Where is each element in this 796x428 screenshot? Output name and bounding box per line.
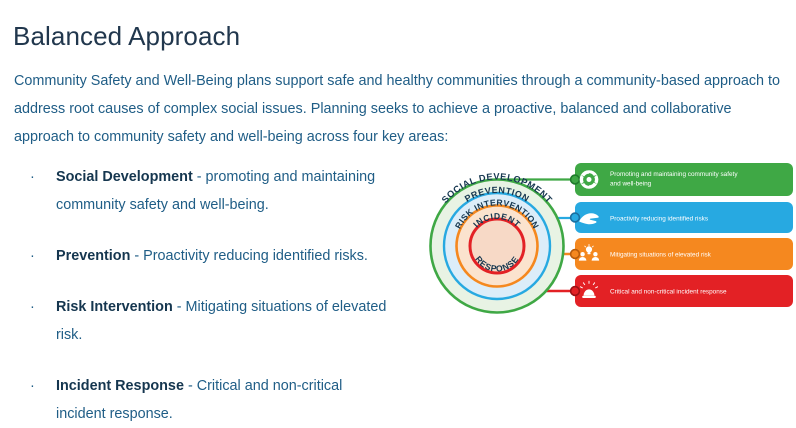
badge-label: Critical and non-critical incident respo… [610,289,727,296]
balanced-approach-page: Balanced Approach Community Safety and W… [0,0,796,424]
list-item-desc: - Proactivity reducing identified risks. [130,248,368,264]
badge-risk-intervention[interactable]: Mitigating situations of elevated risk [571,238,793,270]
page-title: Balanced Approach [13,21,240,52]
badge-label: Proactivity reducing identified risks [610,216,708,223]
list-item: · Incident Response - Critical and non-c… [14,372,394,428]
list-item-term: Risk Intervention [56,299,173,315]
recycle-people-icon [580,170,599,189]
list-item: · Prevention - Proactivity reducing iden… [14,242,394,270]
badge-connector-node [571,213,580,222]
badge-incident-response[interactable]: Critical and non-critical incident respo… [571,275,793,307]
bullet-marker-icon: · [30,242,35,270]
badge-connector-node [571,250,580,259]
badge-background [575,163,793,196]
badge-connector-node [571,287,580,296]
badge-label-line2: and well-being [610,181,652,188]
list-item-term: Social Development [56,169,193,185]
badge-social-development[interactable]: Promoting and maintaining community safe… [571,163,793,196]
bullet-marker-icon: · [30,293,35,321]
list-item: · Risk Intervention - Mitigating situati… [14,293,394,349]
badge-connector-node [571,175,580,184]
badge-label: Mitigating situations of elevated risk [610,252,712,259]
intro-paragraph: Community Safety and Well-Being plans su… [14,67,782,151]
badge-prevention[interactable]: Proactivity reducing identified risks [571,202,793,233]
bullet-marker-icon: · [30,163,35,191]
bullet-marker-icon: · [30,372,35,400]
list-item-term: Prevention [56,248,130,264]
list-item: · Social Development - promoting and mai… [14,163,394,219]
key-areas-list: · Social Development - promoting and mai… [14,163,394,428]
concentric-rings-diagram: SOCIAL DEVELOPMENT PREVENTION RISK INTER… [400,160,796,320]
badge-label: Promoting and maintaining community safe… [610,171,738,178]
list-item-term: Incident Response [56,378,184,394]
